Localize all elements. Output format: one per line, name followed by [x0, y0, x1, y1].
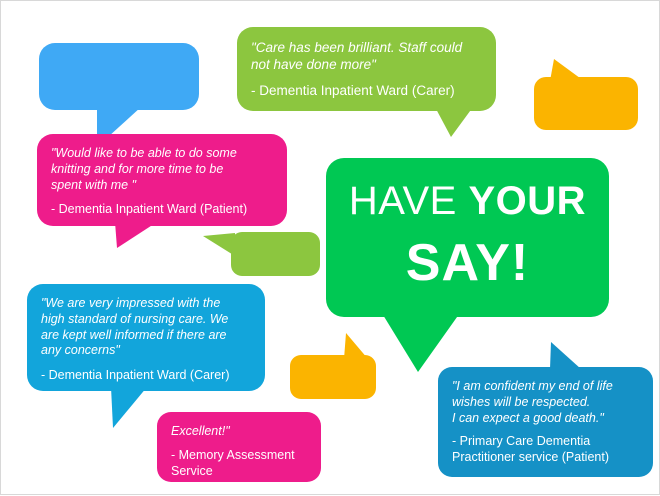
speech-bubble-tail [380, 310, 462, 372]
poster-canvas: "Care has been brilliant. Staff could no… [1, 1, 660, 496]
quote-text: "I am confident my end of life wishes wi… [452, 379, 639, 426]
speech-bubble-body [534, 77, 638, 130]
quote-attribution: - Memory Assessment Service [171, 448, 307, 480]
speech-bubble-body [39, 43, 199, 110]
quote-text: Excellent!" [171, 424, 307, 440]
main-headline-bubble: HAVE YOUR SAY! [326, 158, 609, 317]
speech-bubble-content: "We are very impressed with the high sta… [27, 284, 265, 391]
speech-bubble-content: "Would like to be able to do some knitti… [37, 134, 287, 226]
quote-attribution: - Primary Care Dementia Practitioner ser… [452, 434, 639, 466]
speech-bubble-pink-quote: "Would like to be able to do some knitti… [37, 134, 287, 226]
speech-bubble-content: "I am confident my end of life wishes wi… [438, 367, 653, 477]
quote-attribution: - Dementia Inpatient Ward (Carer) [251, 82, 482, 99]
speech-bubble-yellow-top [534, 77, 638, 130]
speech-bubble-content: Excellent!" - Memory Assessment Service [157, 412, 321, 482]
speech-bubble-blue-quote-2: "I am confident my end of life wishes wi… [438, 367, 653, 477]
quote-text: "We are very impressed with the high sta… [41, 296, 251, 359]
headline-word-your: YOUR [469, 179, 587, 223]
speech-bubble-pink-small: Excellent!" - Memory Assessment Service [157, 412, 321, 482]
headline-content: HAVE YOUR SAY! [326, 158, 609, 317]
speech-bubble-blue-quote: "We are very impressed with the high sta… [27, 284, 265, 391]
quote-attribution: - Dementia Inpatient Ward (Patient) [51, 202, 273, 218]
speech-bubble-blue-empty [39, 43, 199, 110]
quote-text: "Care has been brilliant. Staff could no… [251, 39, 482, 73]
speech-bubble-green-small [231, 232, 320, 276]
speech-bubble-body [231, 232, 320, 276]
speech-bubble-tail [550, 342, 581, 369]
headline-line-2: SAY! [342, 236, 593, 291]
quote-text: "Would like to be able to do some knitti… [51, 146, 273, 193]
speech-bubble-tail [435, 107, 473, 137]
headline-line-1: HAVE YOUR [342, 180, 593, 222]
speech-bubble-body [290, 355, 376, 399]
speech-bubble-yellow-bottom [290, 355, 376, 399]
speech-bubble-tail [111, 387, 147, 428]
quote-attribution: - Dementia Inpatient Ward (Carer) [41, 368, 251, 384]
headline-word-have: HAVE [349, 179, 457, 223]
speech-bubble-green-quote: "Care has been brilliant. Staff could no… [237, 27, 496, 111]
speech-bubble-content: "Care has been brilliant. Staff could no… [237, 27, 496, 111]
